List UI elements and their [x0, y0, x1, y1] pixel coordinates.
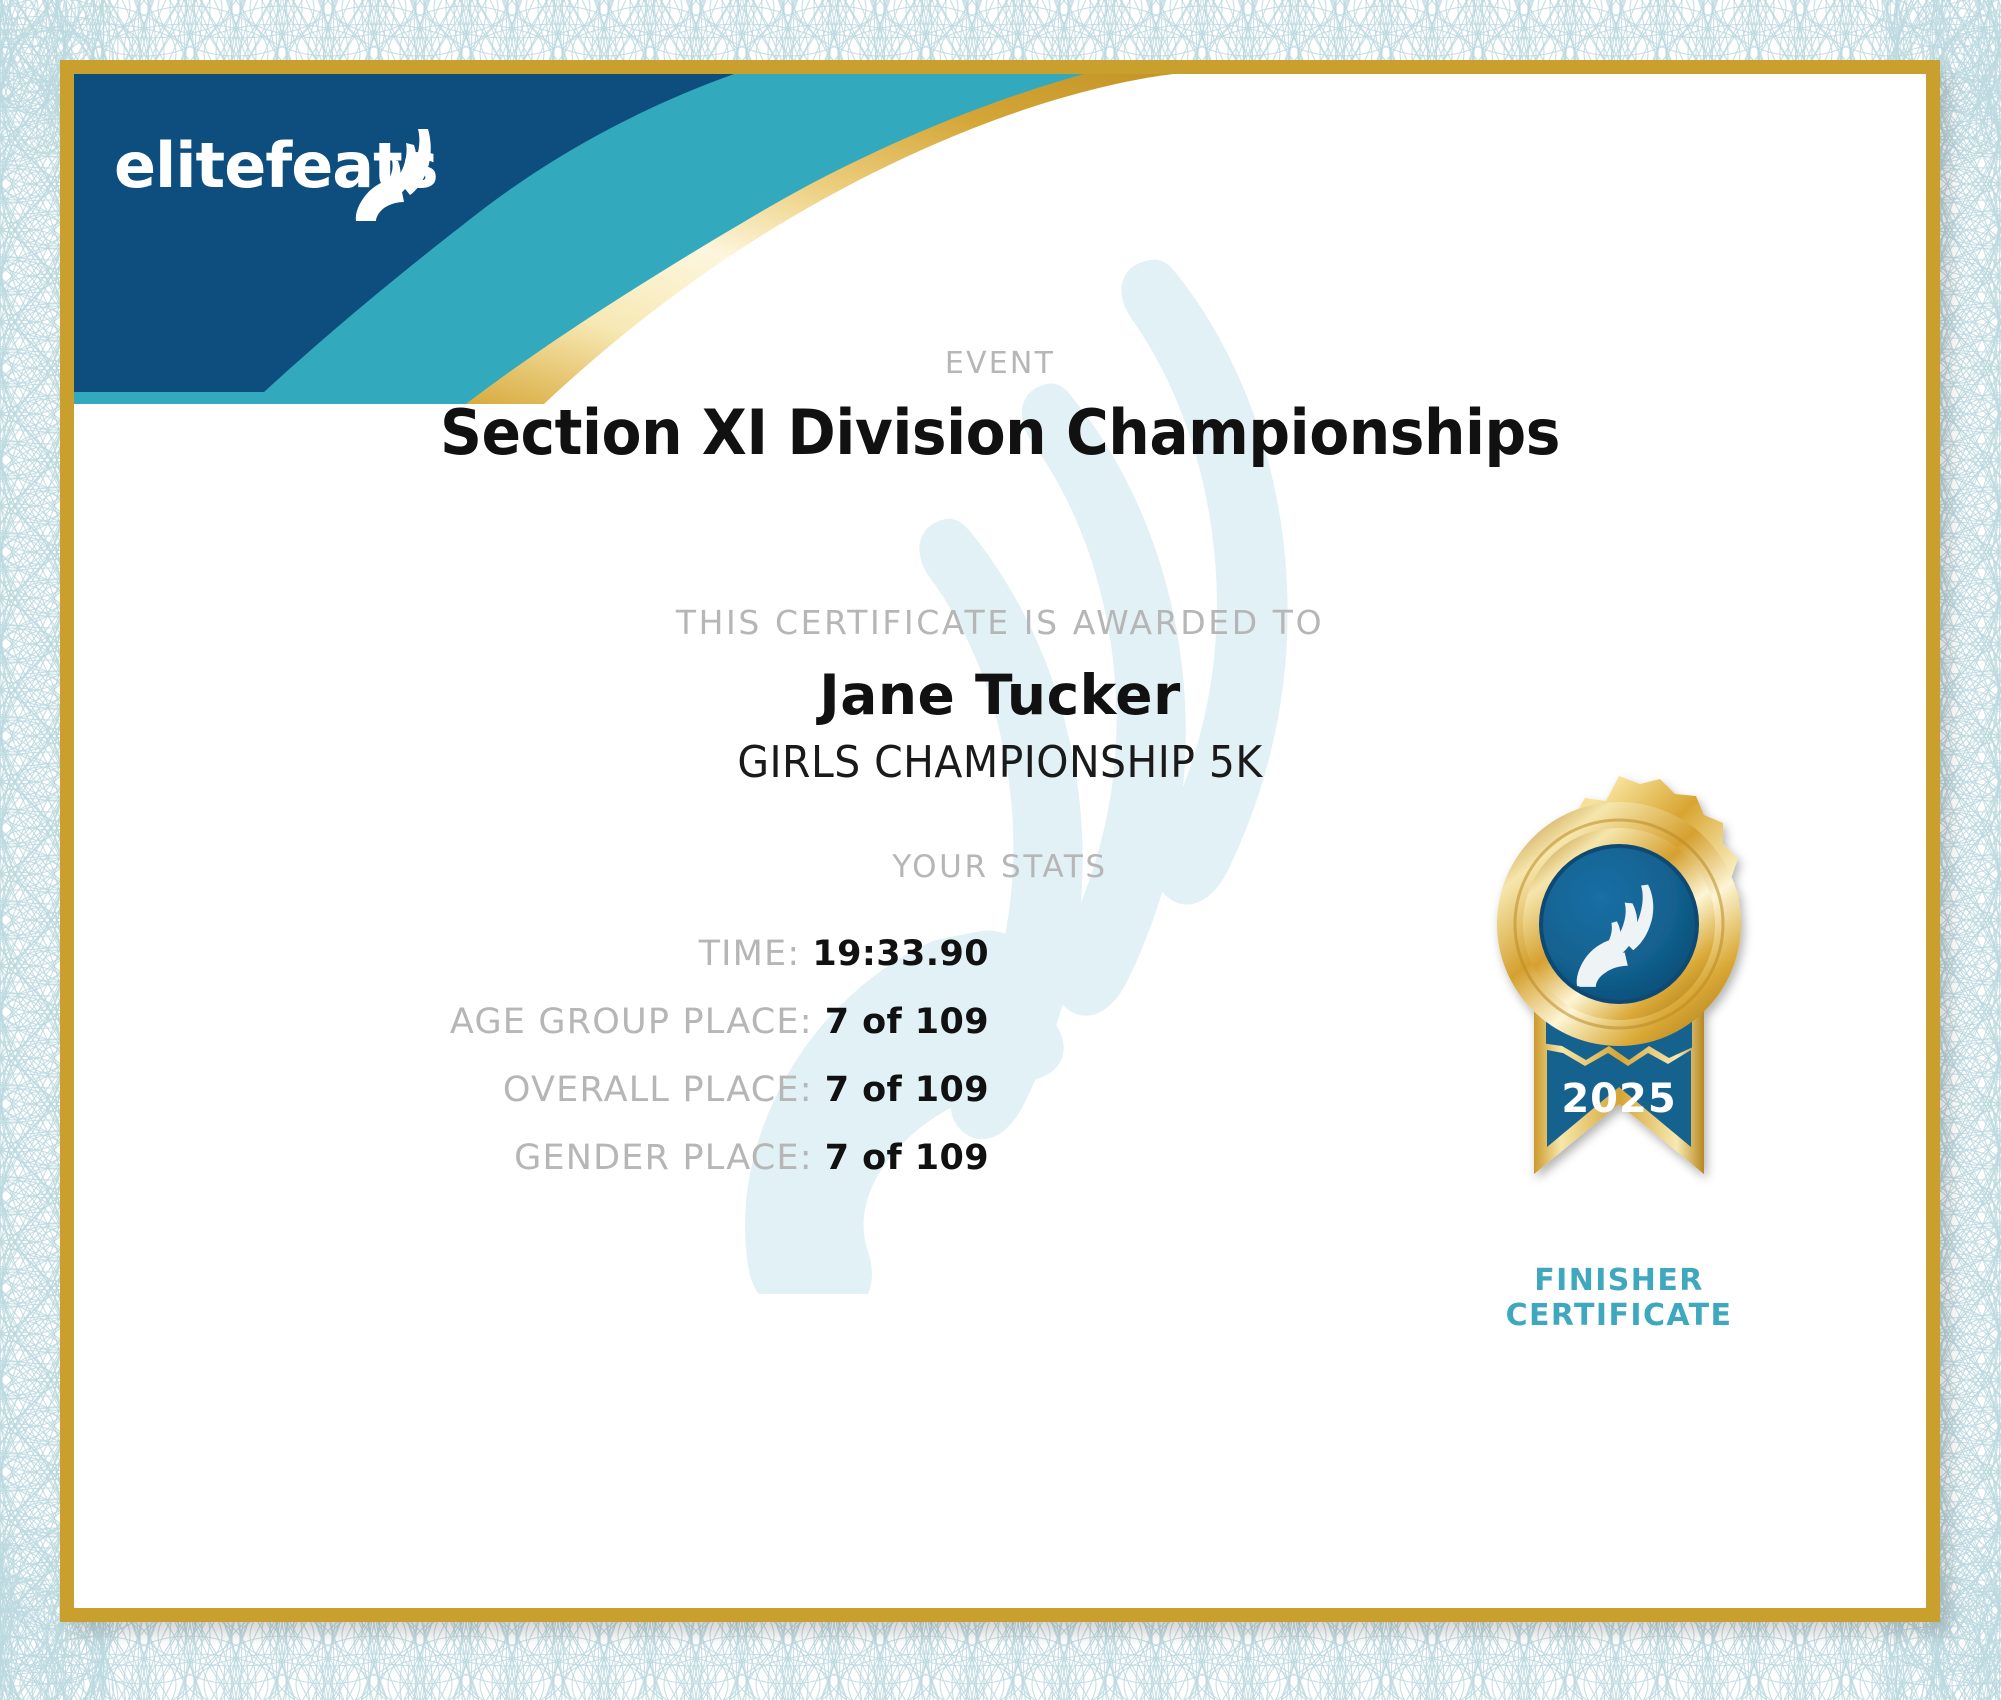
medal-caption-line2: CERTIFICATE	[1506, 1298, 1733, 1333]
certificate-card: elitefeats EVENT Section XI Division Cha…	[60, 60, 1940, 1622]
event-title: Section XI Division Championships	[130, 400, 1871, 465]
stat-label: AGE GROUP PLACE:	[450, 1002, 813, 1042]
stat-label: GENDER PLACE:	[514, 1138, 813, 1178]
elitefeats-logo: elitefeats	[114, 129, 444, 224]
stat-value: 7 of 109	[825, 1138, 989, 1178]
stat-row-overall-place: OVERALL PLACE: 7 of 109	[74, 1070, 989, 1124]
stat-row-age-group-place: AGE GROUP PLACE: 7 of 109	[74, 1002, 989, 1056]
medal-badge-icon: 2025	[1464, 774, 1774, 1264]
stat-value: 7 of 109	[825, 1070, 989, 1110]
certificate-inner: elitefeats EVENT Section XI Division Cha…	[74, 74, 1926, 1608]
medal-caption-line1: FINISHER	[1534, 1263, 1703, 1298]
stat-label: TIME:	[699, 934, 801, 974]
stat-value: 7 of 109	[825, 1002, 989, 1042]
event-label: EVENT	[74, 346, 1926, 381]
stat-row-time: TIME: 19:33.90	[74, 934, 989, 988]
medal-year: 2025	[1561, 1076, 1676, 1122]
stat-label: OVERALL PLACE:	[503, 1070, 813, 1110]
stats-list: TIME: 19:33.90 AGE GROUP PLACE: 7 of 109…	[74, 934, 989, 1206]
finisher-medal: 2025 FINISHER CERTIFICATE	[1464, 774, 1804, 1374]
winged-foot-icon	[352, 121, 444, 221]
certificate-page: elitefeats EVENT Section XI Division Cha…	[0, 0, 2001, 1700]
awarded-to-label: THIS CERTIFICATE IS AWARDED TO	[74, 603, 1926, 642]
stat-row-gender-place: GENDER PLACE: 7 of 109	[74, 1138, 989, 1192]
recipient-name: Jane Tucker	[74, 663, 1926, 727]
stat-value: 19:33.90	[812, 934, 989, 974]
medal-caption: FINISHER CERTIFICATE	[1464, 1264, 1774, 1334]
